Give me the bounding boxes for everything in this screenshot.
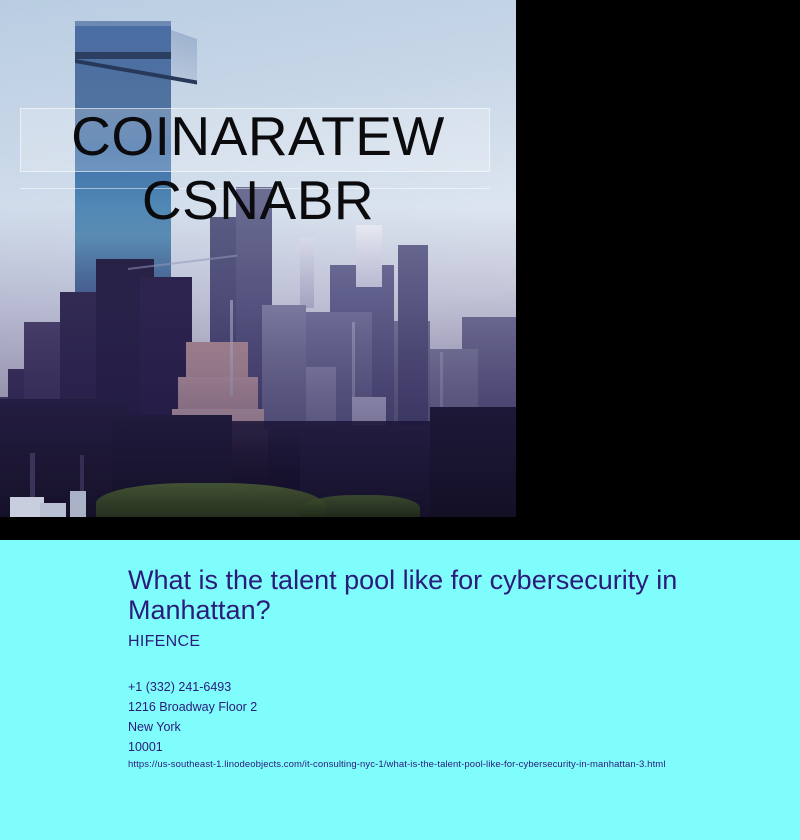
foreground-block (430, 407, 516, 517)
tree-canopy (96, 483, 326, 517)
source-url-link[interactable]: https://us-southeast-1.linodeobjects.com… (128, 759, 666, 771)
contact-block: +1 (332) 241-6493 1216 Broadway Floor 2 … (128, 677, 257, 757)
hero-region: COINARATEW CSNABR (0, 0, 800, 540)
low-structure (10, 497, 44, 517)
street-post (30, 453, 35, 497)
skyline-artwork: COINARATEW CSNABR (0, 0, 516, 517)
info-panel: What is the talent pool like for cyberse… (0, 540, 800, 840)
brand-name: HIFENCE (128, 632, 200, 652)
contact-zip: 10001 (128, 737, 257, 757)
contact-city: New York (128, 717, 257, 737)
artwork-overlay-title: COINARATEW CSNABR (0, 104, 516, 232)
page-root: COINARATEW CSNABR What is the talent poo… (0, 0, 800, 840)
street-post (80, 455, 84, 491)
contact-phone: +1 (332) 241-6493 (128, 677, 257, 697)
contact-street: 1216 Broadway Floor 2 (128, 697, 257, 717)
low-structure (40, 503, 66, 517)
page-title: What is the talent pool like for cyberse… (128, 565, 688, 625)
low-structure (70, 491, 86, 517)
tree-canopy (300, 495, 420, 517)
